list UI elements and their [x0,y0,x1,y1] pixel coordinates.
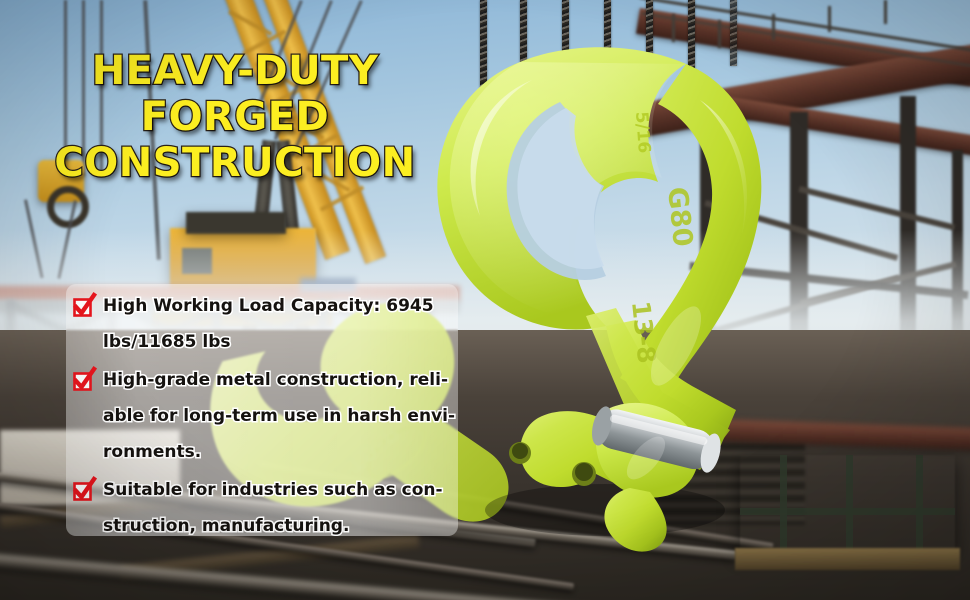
svg-text:G80: G80 [661,185,698,248]
checked-checkbox-icon [73,370,94,391]
product-marketing-banner: 10-8 [0,0,970,600]
feature-text: High Working Load Capacity: 6945 lbs/116… [70,288,470,360]
feature-text: Suitable for industries such as con- str… [70,472,470,544]
list-item: Suitable for industries such as con- str… [70,472,470,544]
list-item: High Working Load Capacity: 6945 lbs/116… [70,288,470,360]
svg-text:5/16: 5/16 [631,111,654,154]
checked-checkbox-icon [73,296,94,317]
feature-text: High-grade metal construction, reli- abl… [70,362,470,470]
list-item: High-grade metal construction, reli- abl… [70,362,470,470]
checked-checkbox-icon [73,480,94,501]
feature-list: High Working Load Capacity: 6945 lbs/116… [70,288,470,546]
